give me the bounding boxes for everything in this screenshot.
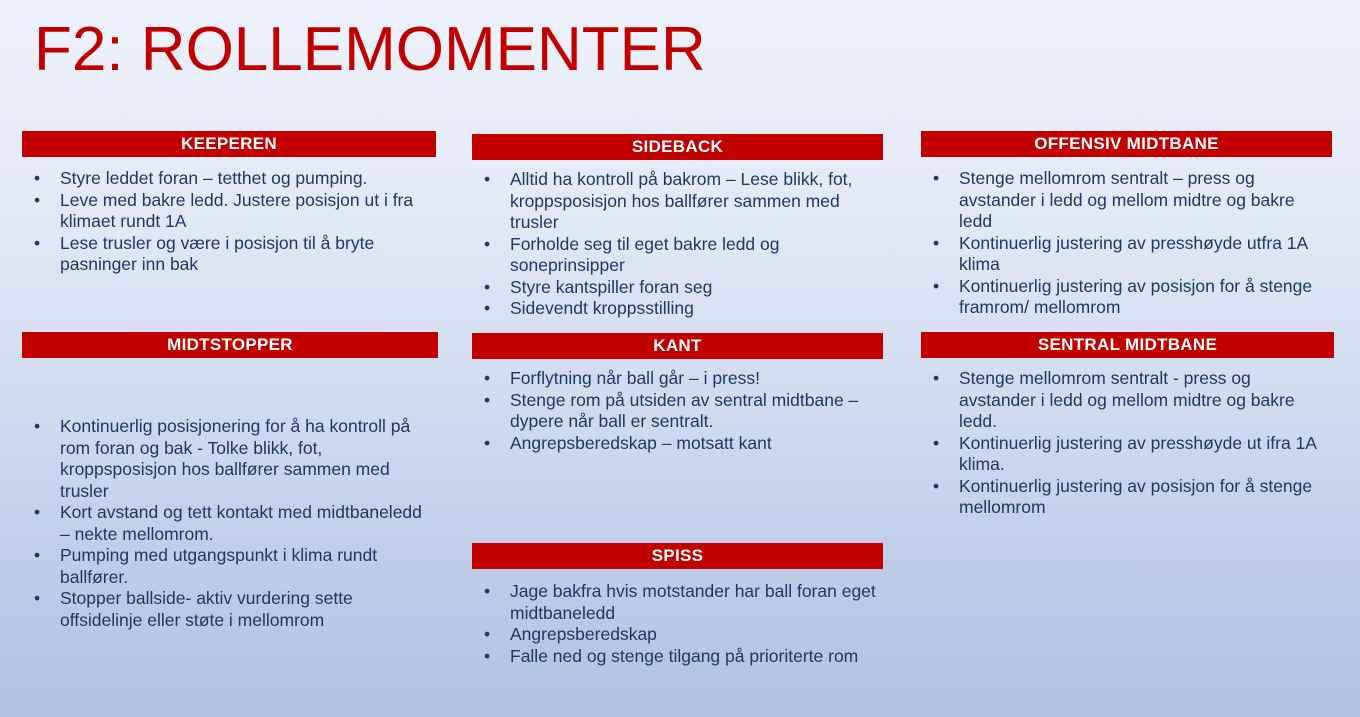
bullet-dot-icon: • (34, 502, 40, 524)
section-kant: KANT • Forflytning når ball går – i pres… (472, 333, 883, 454)
list-item: • Stenge rom på utsiden av sentral midtb… (472, 390, 883, 433)
list-item-text: Stenge mellomrom sentralt – press og avs… (959, 168, 1295, 231)
section-header-midtstopper: MIDTSTOPPER (22, 332, 438, 358)
list-item-text: Angrepsberedskap – motsatt kant (510, 433, 772, 453)
list-item: • Kontinuerlig justering av presshøyde u… (921, 433, 1332, 476)
bullet-dot-icon: • (484, 298, 490, 320)
bullet-dot-icon: • (484, 277, 490, 299)
bullet-dot-icon: • (484, 624, 490, 646)
list-item-text: Stenge rom på utsiden av sentral midtban… (510, 390, 858, 432)
bullet-list-midtstopper: • Kontinuerlig posisjonering for å ha ko… (22, 416, 436, 631)
bullet-dot-icon: • (933, 233, 939, 255)
list-item-text: Lese trusler og være i posisjon til å br… (60, 233, 374, 275)
bullet-dot-icon: • (484, 169, 490, 191)
section-midtstopper: MIDTSTOPPER • Kontinuerlig posisjonering… (22, 332, 436, 631)
list-item: • Alltid ha kontroll på bakrom – Lese bl… (472, 169, 883, 234)
section-sideback: SIDEBACK • Alltid ha kontroll på bakrom … (472, 134, 883, 320)
section-header-spiss: SPISS (472, 543, 883, 569)
list-item-text: Angrepsberedskap (510, 624, 657, 644)
list-item-text: Forholde seg til eget bakre ledd og sone… (510, 234, 779, 276)
list-item-text: Sidevendt kroppsstilling (510, 298, 694, 318)
bullet-dot-icon: • (34, 545, 40, 567)
bullet-dot-icon: • (933, 433, 939, 455)
bullet-dot-icon: • (933, 476, 939, 498)
bullet-dot-icon: • (34, 416, 40, 438)
bullet-list-kant: • Forflytning når ball går – i press! • … (472, 368, 883, 454)
list-item-text: Falle ned og stenge tilgang på prioriter… (510, 646, 858, 666)
list-item: • Forflytning når ball går – i press! (472, 368, 883, 390)
list-item: • Angrepsberedskap – motsatt kant (472, 433, 883, 455)
list-item-text: Leve med bakre ledd. Justere posisjon ut… (60, 190, 413, 232)
section-header-kant: KANT (472, 333, 883, 359)
list-item: • Angrepsberedskap (472, 624, 883, 646)
bullet-dot-icon: • (484, 368, 490, 390)
list-item-text: Stenge mellomrom sentralt - press og avs… (959, 368, 1295, 431)
section-keeperen: KEEPEREN • Styre leddet foran – tetthet … (22, 131, 436, 276)
list-item: • Styre leddet foran – tetthet og pumpin… (22, 168, 436, 190)
list-item: • Kontinuerlig justering av posisjon for… (921, 476, 1332, 519)
list-item: • Kontinuerlig justering av presshøyde u… (921, 233, 1332, 276)
bullet-dot-icon: • (484, 390, 490, 412)
list-item: • Kort avstand og tett kontakt med midtb… (22, 502, 436, 545)
list-item: • Kontinuerlig justering av posisjon for… (921, 276, 1332, 319)
bullet-list-offensiv-midtbane: • Stenge mellomrom sentralt – press og a… (921, 168, 1332, 319)
list-item-text: Jage bakfra hvis motstander har ball for… (510, 581, 876, 623)
bullet-dot-icon: • (933, 168, 939, 190)
list-item: • Lese trusler og være i posisjon til å … (22, 233, 436, 276)
section-header-keeperen: KEEPEREN (22, 131, 436, 157)
list-item-text: Stopper ballside- aktiv vurdering sette … (60, 588, 353, 630)
list-item: • Sidevendt kroppsstilling (472, 298, 883, 320)
list-item: • Pumping med utgangspunkt i klima rundt… (22, 545, 436, 588)
list-item-text: Kontinuerlig justering av presshøyde utf… (959, 233, 1307, 275)
bullet-dot-icon: • (933, 276, 939, 298)
list-item-text: Kontinuerlig justering av presshøyde ut … (959, 433, 1316, 475)
list-item-text: Kontinuerlig posisjonering for å ha kont… (60, 416, 410, 501)
bullet-dot-icon: • (933, 368, 939, 390)
list-item-text: Pumping med utgangspunkt i klima rundt b… (60, 545, 377, 587)
section-header-sentral-midtbane: SENTRAL MIDTBANE (921, 332, 1334, 358)
list-item: • Stopper ballside- aktiv vurdering sett… (22, 588, 436, 631)
bullet-list-spiss: • Jage bakfra hvis motstander har ball f… (472, 581, 883, 667)
bullet-list-keeperen: • Styre leddet foran – tetthet og pumpin… (22, 168, 436, 276)
bullet-dot-icon: • (484, 433, 490, 455)
list-item: • Leve med bakre ledd. Justere posisjon … (22, 190, 436, 233)
list-item-text: Styre leddet foran – tetthet og pumping. (60, 168, 367, 188)
bullet-list-sentral-midtbane: • Stenge mellomrom sentralt - press og a… (921, 368, 1332, 519)
list-item-text: Forflytning når ball går – i press! (510, 368, 760, 388)
slide-canvas: F2: ROLLEMOMENTER KEEPEREN • Styre ledde… (0, 0, 1360, 717)
bullet-dot-icon: • (484, 581, 490, 603)
section-spiss: SPISS • Jage bakfra hvis motstander har … (472, 543, 883, 667)
bullet-dot-icon: • (34, 190, 40, 212)
list-item: • Forholde seg til eget bakre ledd og so… (472, 234, 883, 277)
list-item: • Styre kantspiller foran seg (472, 277, 883, 299)
bullet-dot-icon: • (484, 646, 490, 668)
bullet-dot-icon: • (34, 168, 40, 190)
list-item-text: Kontinuerlig justering av posisjon for å… (959, 276, 1312, 318)
section-header-sideback: SIDEBACK (472, 134, 883, 160)
list-item: • Falle ned og stenge tilgang på priorit… (472, 646, 883, 668)
list-item-text: Kontinuerlig justering av posisjon for å… (959, 476, 1312, 518)
bullet-dot-icon: • (484, 234, 490, 256)
list-item-text: Styre kantspiller foran seg (510, 277, 712, 297)
list-item: • Stenge mellomrom sentralt - press og a… (921, 368, 1332, 433)
bullet-list-sideback: • Alltid ha kontroll på bakrom – Lese bl… (472, 169, 883, 320)
bullet-dot-icon: • (34, 233, 40, 255)
list-item: • Jage bakfra hvis motstander har ball f… (472, 581, 883, 624)
section-header-offensiv-midtbane: OFFENSIV MIDTBANE (921, 131, 1332, 157)
section-sentral-midtbane: SENTRAL MIDTBANE • Stenge mellomrom sent… (921, 332, 1332, 519)
bullet-dot-icon: • (34, 588, 40, 610)
list-item-text: Alltid ha kontroll på bakrom – Lese blik… (510, 169, 852, 232)
list-item: • Kontinuerlig posisjonering for å ha ko… (22, 416, 436, 502)
page-title: F2: ROLLEMOMENTER (34, 12, 706, 88)
section-offensiv-midtbane: OFFENSIV MIDTBANE • Stenge mellomrom sen… (921, 131, 1332, 319)
list-item: • Stenge mellomrom sentralt – press og a… (921, 168, 1332, 233)
list-item-text: Kort avstand og tett kontakt med midtban… (60, 502, 422, 544)
